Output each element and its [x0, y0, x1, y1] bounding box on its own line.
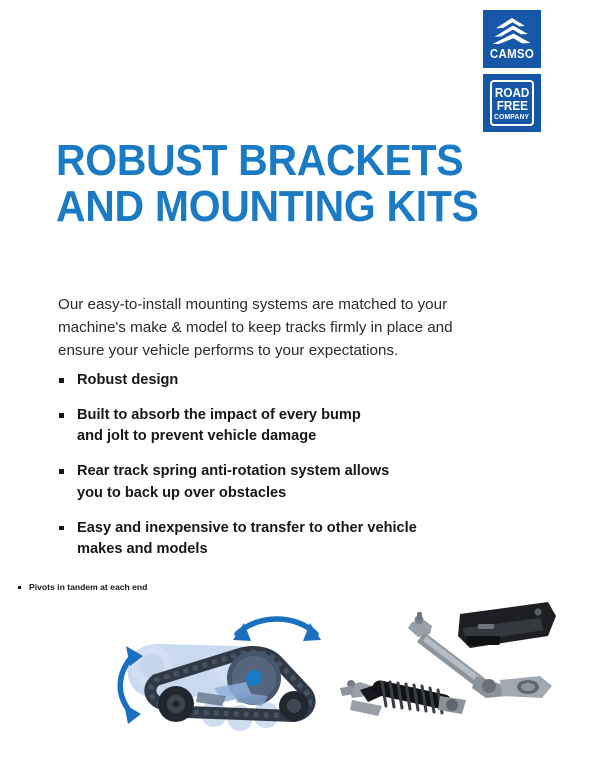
illustration-canvas [0, 596, 600, 731]
footnote: Pivots in tandem at each end [18, 582, 147, 592]
illustration-row [0, 596, 600, 731]
list-item-line: Robust design [77, 370, 538, 391]
intro-line-3: ensure your vehicle performs to your exp… [58, 339, 526, 362]
mounting-bracket [458, 602, 556, 648]
road-free-line-3: COMPANY [494, 113, 529, 121]
intro-paragraph: Our easy-to-install mounting systems are… [58, 293, 526, 362]
rubber-track-system-diagram [120, 619, 321, 731]
camso-wordmark: CAMSO [485, 47, 538, 61]
page-title: ROBUST BRACKETS AND MOUNTING KITS [56, 138, 493, 230]
brand-logo-stack: CAMSO ROAD FREE COMPANY [483, 10, 541, 132]
road-free-line-2: FREE [496, 99, 527, 112]
list-item: Easy and inexpensive to transfer to othe… [58, 518, 538, 560]
list-item-line: makes and models [77, 539, 538, 560]
list-item: Rear track spring anti-rotation system a… [58, 461, 538, 503]
intro-line-1: Our easy-to-install mounting systems are… [58, 293, 526, 316]
coil-spring [380, 682, 444, 713]
rear-wheel [279, 691, 309, 721]
idler-wheel [158, 686, 194, 722]
list-item: Built to absorb the impact of every bump… [58, 405, 538, 447]
camso-logo: CAMSO [483, 10, 541, 68]
list-item-line: Easy and inexpensive to transfer to othe… [77, 518, 538, 539]
page-title-line-2: AND MOUNTING KITS [56, 184, 493, 230]
road-free-badge-frame: ROAD FREE COMPANY [490, 80, 534, 126]
page-title-line-1: ROBUST BRACKETS [56, 138, 493, 184]
list-item-line: Built to absorb the impact of every bump [77, 405, 538, 426]
list-item: Robust design [58, 370, 538, 391]
list-item-line: Rear track spring anti-rotation system a… [77, 461, 538, 482]
list-item-line: you to back up over obstacles [77, 483, 538, 504]
spring-damper [340, 680, 466, 716]
list-item-line: and jolt to prevent vehicle damage [77, 426, 538, 447]
camso-chevron-mountain-icon [492, 17, 532, 45]
intro-line-2: machine's make & model to keep tracks fi… [58, 316, 526, 339]
road-free-company-badge: ROAD FREE COMPANY [483, 74, 541, 132]
feature-list: Robust design Built to absorb the impact… [58, 370, 538, 574]
mounting-hardware-photo [340, 602, 556, 716]
